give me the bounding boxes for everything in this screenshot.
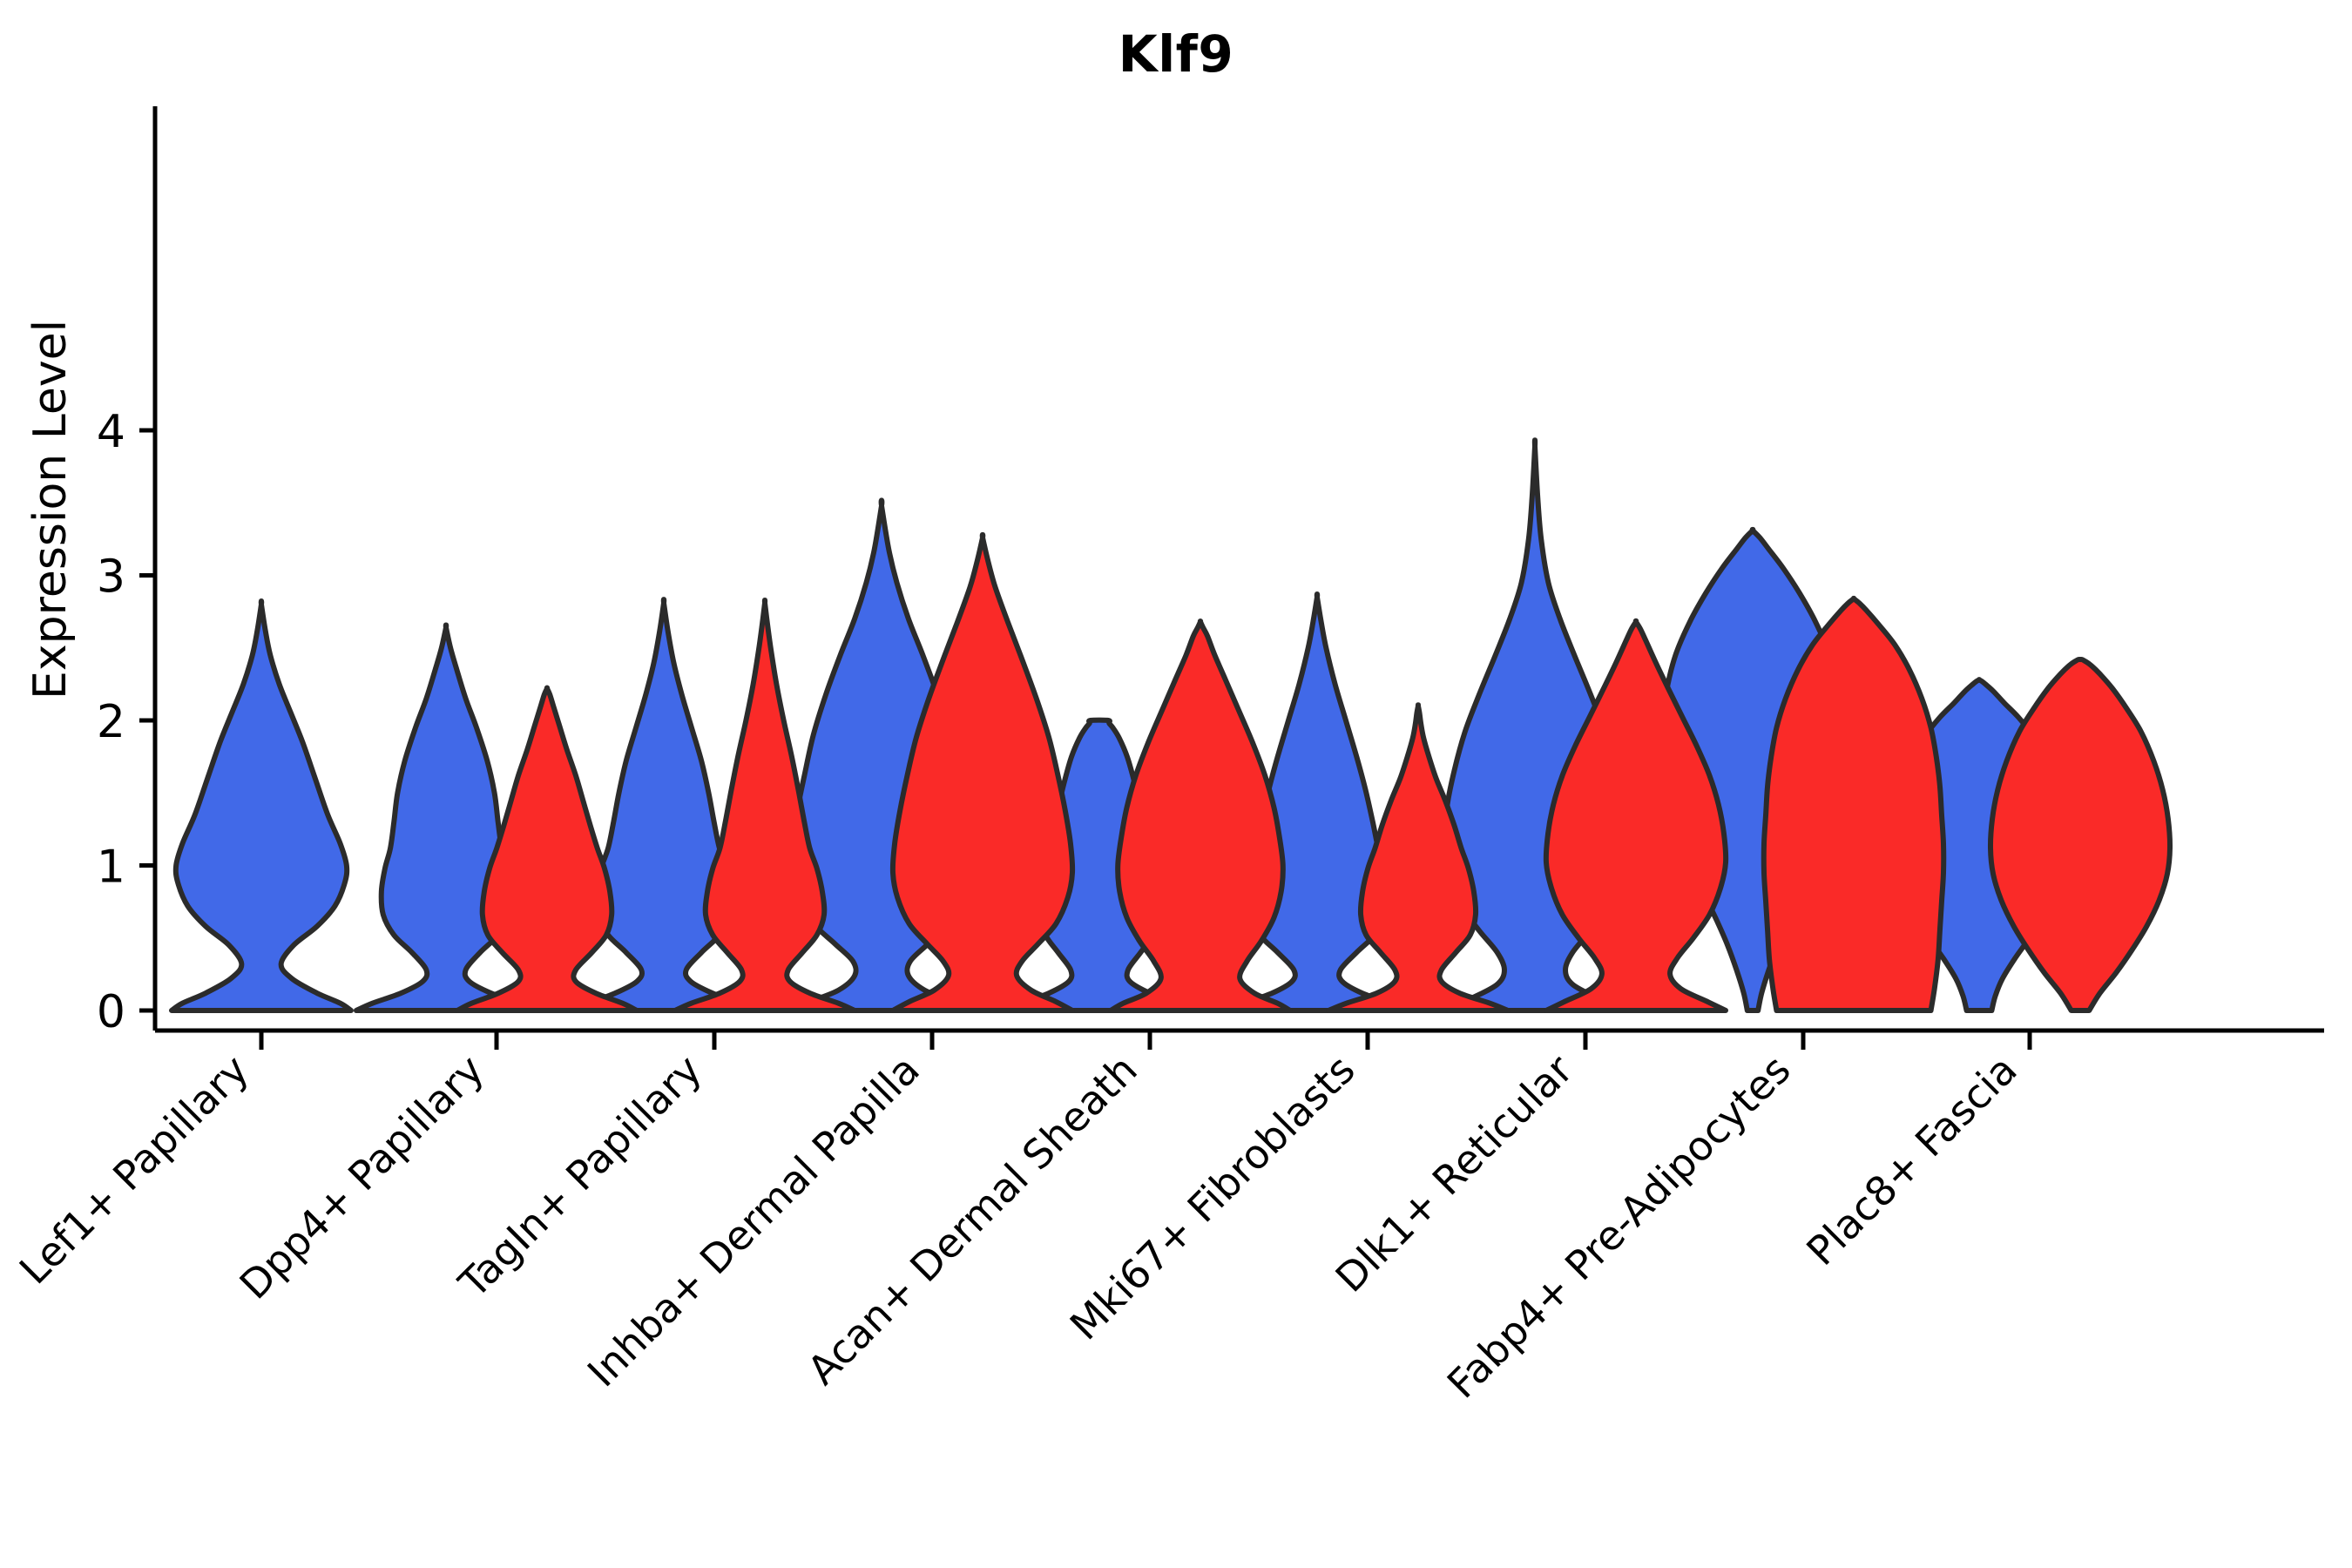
x-tick-label: Plac8+ Fascia (1797, 1046, 2025, 1274)
y-ticks-layer: 01234 (97, 406, 155, 1038)
violins-layer (172, 440, 2170, 1010)
y-tick-label: 2 (97, 696, 125, 748)
y-tick-label: 3 (97, 551, 125, 604)
y-tick-label: 0 (97, 986, 125, 1038)
plot-area: 01234 Lef1+ PapillaryDpp4+ PapillaryTagI… (0, 0, 2352, 1568)
x-tick-label: Dlk1+ Reticular (1327, 1046, 1582, 1301)
x-ticks-layer: Lef1+ PapillaryDpp4+ PapillaryTagIn+ Pap… (10, 1031, 2030, 1408)
x-tick-label: Fabp4+ Pre-Adipocytes (1438, 1046, 1800, 1408)
violin-plot-figure: Klf9 Expression Level 01234 Lef1+ Papill… (0, 0, 2352, 1568)
violin-shape[interactable] (893, 535, 1072, 1010)
violin-shape[interactable] (172, 601, 351, 1010)
x-tick-label: Lef1+ Papillary (10, 1046, 258, 1294)
x-tick-label: TagIn+ Papillary (449, 1046, 711, 1308)
y-tick-label: 1 (97, 841, 125, 894)
y-tick-label: 4 (97, 406, 125, 458)
